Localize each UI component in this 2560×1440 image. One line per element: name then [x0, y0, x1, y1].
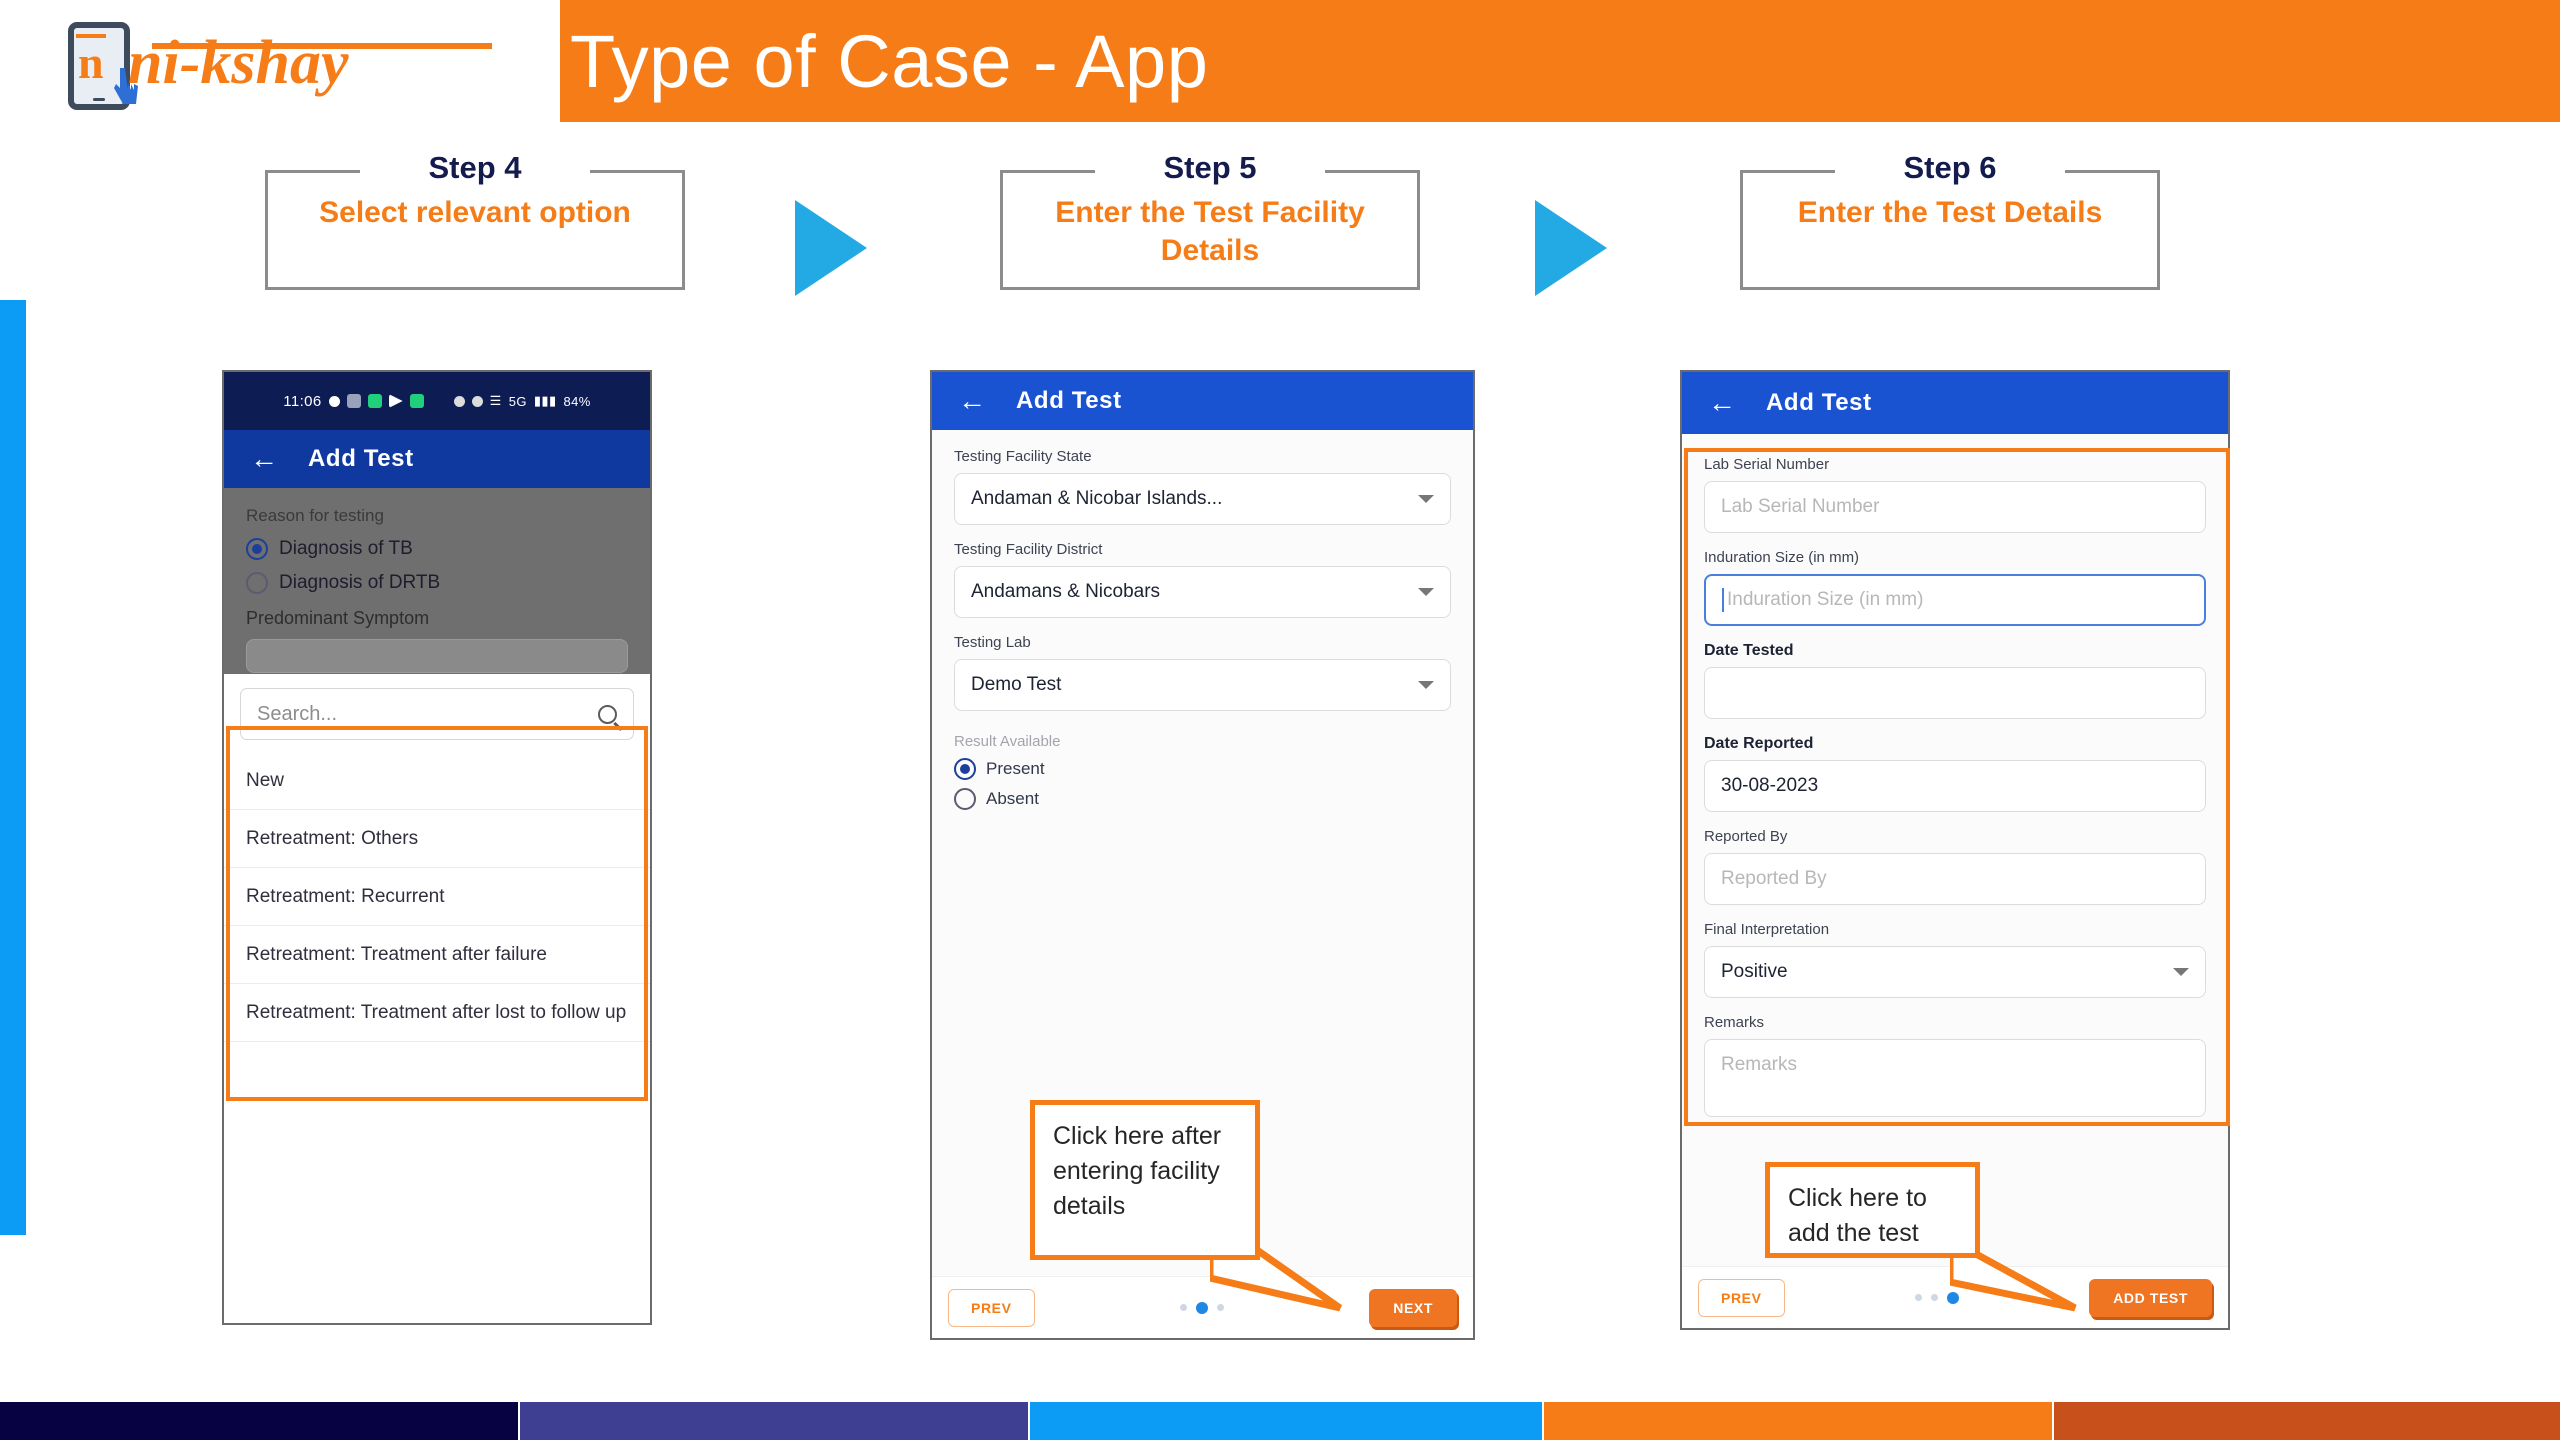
- step-header-5: Step 5 Enter the Test Facility Details: [1000, 150, 1420, 290]
- pager-dot-active[interactable]: [1196, 1302, 1208, 1314]
- prev-button[interactable]: PREV: [1698, 1279, 1785, 1317]
- step-number-label: Step 5: [1000, 150, 1420, 186]
- back-arrow-icon[interactable]: ←: [250, 445, 278, 473]
- arrow-triangle-icon: [1535, 200, 1607, 296]
- step-description: Select relevant option: [277, 194, 673, 232]
- reason-for-testing-label: Reason for testing: [246, 506, 628, 526]
- status-alarm-icon: [454, 396, 465, 407]
- status-whatsapp-icon: [368, 394, 382, 408]
- select-testing-facility-district[interactable]: Andamans & Nicobars: [954, 566, 1451, 618]
- radio-diagnosis-tb[interactable]: [246, 538, 268, 560]
- field-value: Andamans & Nicobars: [971, 581, 1160, 603]
- chevron-down-icon: [1418, 681, 1434, 689]
- radio-diagnosis-drtb[interactable]: [246, 572, 268, 594]
- status-signal-icon: ▮▮▮: [534, 393, 557, 409]
- search-icon: [598, 705, 617, 724]
- status-wifi-icon: ☰: [490, 393, 502, 409]
- footer-strip-4: [1544, 1402, 2052, 1440]
- app-bar-title: Add Test: [1016, 387, 1122, 415]
- radio-label-absent: Absent: [986, 789, 1039, 809]
- back-arrow-icon[interactable]: ←: [958, 387, 986, 415]
- brand-logo: n ni-kshay: [62, 14, 482, 114]
- field-value: Demo Test: [971, 674, 1061, 696]
- callout-tail-2: [1210, 1160, 1550, 1320]
- status-battery-label: 84%: [564, 394, 591, 409]
- radio-label-diagnosis-drtb: Diagnosis of DRTB: [279, 572, 440, 594]
- result-available-label: Result Available: [954, 733, 1451, 751]
- step-number-label: Step 4: [265, 150, 685, 186]
- page-title: Type of Case - App: [570, 14, 1208, 109]
- radio-label-present: Present: [986, 759, 1045, 779]
- status-app2-icon: [410, 394, 424, 408]
- highlight-box-option-list: [226, 726, 648, 1101]
- status-dot-icon: [329, 396, 340, 407]
- pager-dot[interactable]: [1180, 1304, 1187, 1311]
- left-accent-strip: [0, 300, 26, 1235]
- predominant-symptom-label: Predominant Symptom: [246, 608, 628, 629]
- step-header-4: Step 4 Select relevant option: [265, 150, 685, 290]
- prev-button[interactable]: PREV: [948, 1289, 1035, 1327]
- callout-next-instruction: Click here after entering facility detai…: [1030, 1100, 1260, 1260]
- logo-wordmark: ni-kshay: [128, 20, 348, 106]
- footer-strip-2: [520, 1402, 1028, 1440]
- status-send-icon: [389, 394, 403, 408]
- field-label: Testing Facility District: [954, 541, 1451, 559]
- step-number-label: Step 6: [1740, 150, 2160, 186]
- radio-label-diagnosis-tb: Diagnosis of TB: [279, 538, 413, 560]
- dimmed-form-backdrop: Reason for testing Diagnosis of TB Diagn…: [224, 488, 650, 674]
- step-description: Enter the Test Details: [1752, 194, 2148, 232]
- field-label: Testing Lab: [954, 634, 1451, 652]
- chevron-down-icon: [1418, 588, 1434, 596]
- app-bar: ← Add Test: [224, 430, 650, 488]
- result-available-group: Result Available Present Absent: [954, 733, 1451, 810]
- field-testing-facility-district: Testing Facility District Andamans & Nic…: [954, 541, 1451, 618]
- step-header-6: Step 6 Enter the Test Details: [1740, 150, 2160, 290]
- arrow-triangle-icon: [795, 200, 867, 296]
- status-app-icon: [347, 394, 361, 408]
- status-bluetooth-icon: [472, 396, 483, 407]
- field-value: Andaman & Nicobar Islands...: [971, 488, 1222, 510]
- select-testing-lab[interactable]: Demo Test: [954, 659, 1451, 711]
- radio-present[interactable]: [954, 758, 976, 780]
- search-placeholder: Search...: [257, 703, 337, 726]
- chevron-down-icon: [1418, 495, 1434, 503]
- pager-dot[interactable]: [1915, 1294, 1922, 1301]
- field-testing-facility-state: Testing Facility State Andaman & Nicobar…: [954, 448, 1451, 525]
- status-bar: 11:06 ☰ 5G ▮▮▮ 84%: [224, 372, 650, 430]
- field-label: Testing Facility State: [954, 448, 1451, 466]
- app-bar: ← Add Test: [932, 372, 1473, 430]
- logo-mark-letter: n: [78, 40, 104, 86]
- highlight-box-test-details: [1684, 448, 2230, 1126]
- field-testing-lab: Testing Lab Demo Test: [954, 634, 1451, 711]
- status-network-label: 5G: [509, 394, 527, 409]
- status-time: 11:06: [283, 393, 321, 410]
- callout-add-test-instruction: Click here to add the test: [1765, 1162, 1980, 1258]
- app-bar-title: Add Test: [308, 445, 414, 473]
- select-testing-facility-state[interactable]: Andaman & Nicobar Islands...: [954, 473, 1451, 525]
- step-description: Enter the Test Facility Details: [1012, 194, 1408, 270]
- radio-absent[interactable]: [954, 788, 976, 810]
- slide-root: Type of Case - App n ni-kshay Step 4 Sel…: [0, 0, 2560, 1440]
- app-bar-title: Add Test: [1766, 389, 1872, 417]
- footer-strip-5: [2054, 1402, 2560, 1440]
- callout-tail-3: [1950, 1190, 2290, 1320]
- footer-strip-1: [0, 1402, 518, 1440]
- back-arrow-icon[interactable]: ←: [1708, 389, 1736, 417]
- pager-dot[interactable]: [1931, 1294, 1938, 1301]
- app-bar: ← Add Test: [1682, 372, 2228, 434]
- symptom-field-dimmed: [246, 639, 628, 673]
- footer-strip-3: [1030, 1402, 1542, 1440]
- callout-text: Click here to add the test: [1788, 1184, 1927, 1247]
- callout-text: Click here after entering facility detai…: [1053, 1122, 1221, 1220]
